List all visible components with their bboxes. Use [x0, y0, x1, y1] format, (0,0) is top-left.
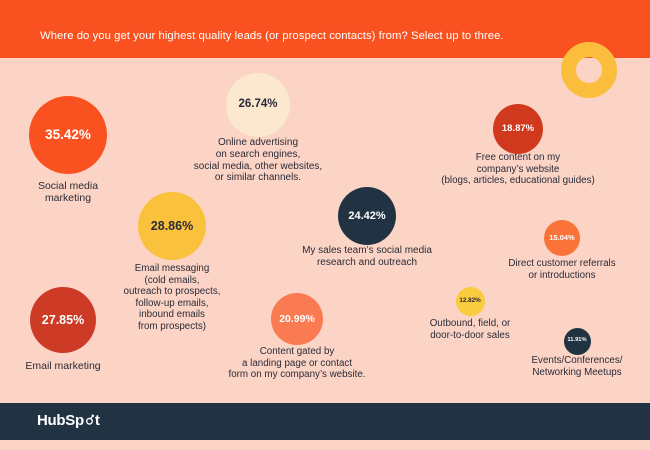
- bubble-email-messaging[interactable]: 28.86%: [138, 192, 206, 260]
- bubble-value-online-advertising: 26.74%: [238, 99, 277, 111]
- bubble-content-gated[interactable]: 20.99%: [271, 293, 323, 345]
- page-title: Where do you get your highest quality le…: [40, 30, 504, 42]
- bubble-value-email-messaging: 28.86%: [151, 220, 193, 233]
- bubble-value-events-conferences: 11.91%: [567, 338, 586, 344]
- bubble-free-content-website[interactable]: 18.87%: [493, 104, 543, 154]
- logo-wordmark-tail: t: [95, 412, 100, 429]
- bubble-sales-team-social-research[interactable]: 24.42%: [338, 187, 396, 245]
- infographic-canvas: Where do you get your highest quality le…: [0, 0, 650, 450]
- bubble-value-email-marketing: 27.85%: [42, 314, 84, 327]
- logo-wordmark-lead: HubSp: [37, 412, 84, 429]
- bubble-online-advertising[interactable]: 26.74%: [226, 73, 290, 137]
- bubble-value-content-gated: 20.99%: [279, 314, 315, 325]
- bubble-value-free-content-website: 18.87%: [502, 124, 534, 134]
- hubspot-logo: HubSp t: [37, 412, 100, 429]
- bubble-value-sales-team-social-research: 24.42%: [348, 211, 385, 222]
- bubble-email-marketing[interactable]: 27.85%: [30, 287, 96, 353]
- bubble-value-direct-customer-referrals: 15.04%: [549, 234, 574, 242]
- hubspot-sprocket-icon: [84, 412, 95, 423]
- bubble-direct-customer-referrals[interactable]: 15.04%: [544, 220, 580, 256]
- header-band: [0, 0, 650, 58]
- donut-ring-icon: [561, 42, 617, 98]
- bubble-value-outbound-field-sales: 12.82%: [459, 298, 480, 304]
- bubble-value-social-media-marketing: 35.42%: [45, 128, 91, 142]
- bubble-events-conferences[interactable]: 11.91%: [564, 328, 591, 355]
- bubble-social-media-marketing[interactable]: 35.42%: [29, 96, 107, 174]
- bubble-outbound-field-sales[interactable]: 12.82%: [456, 287, 485, 316]
